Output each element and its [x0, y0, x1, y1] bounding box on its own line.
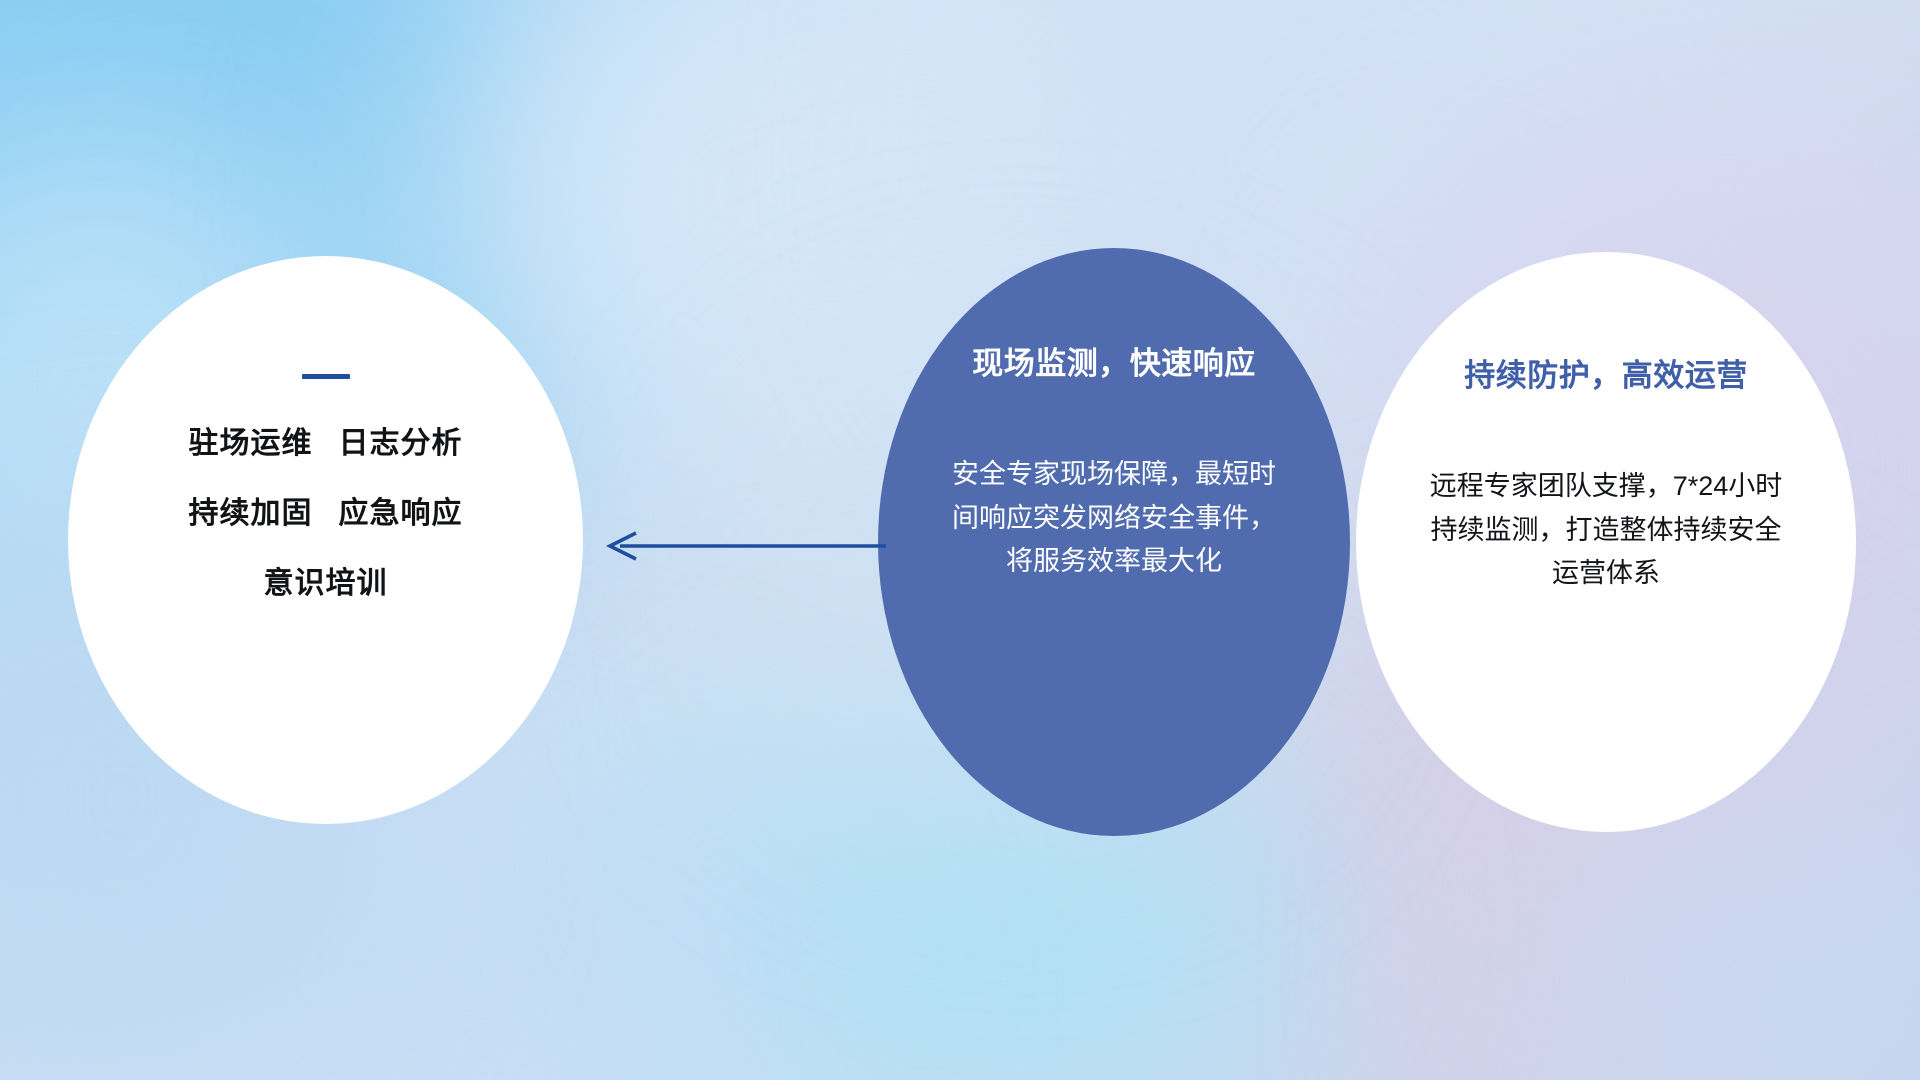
middle-circle-body: 安全专家现场保障，最短时间响应突发网络安全事件，将服务效率最大化 — [949, 453, 1279, 584]
keyword-row-1: 驻场运维日志分析 — [189, 429, 463, 459]
keyword-zhuchangyunwei: 驻场运维 — [189, 427, 313, 460]
divider-dash-icon — [302, 374, 350, 379]
right-circle-body: 远程专家团队支撑，7*24小时持续监测，打造整体持续安全运营体系 — [1420, 465, 1792, 596]
keyword-row-3: 意识培训 — [264, 569, 388, 599]
left-arrow-icon — [600, 520, 890, 572]
left-circle[interactable]: 驻场运维日志分析 持续加固应急响应 意识培训 — [68, 256, 583, 824]
keyword-yishipeixun: 意识培训 — [264, 567, 388, 600]
middle-circle[interactable]: 现场监测，快速响应 安全专家现场保障，最短时间响应突发网络安全事件，将服务效率最… — [878, 248, 1350, 836]
connector-arrow — [600, 520, 890, 577]
keyword-yingjixiangying: 应急响应 — [339, 497, 463, 530]
middle-circle-title: 现场监测，快速响应 — [972, 348, 1256, 379]
keyword-chixujiagu: 持续加固 — [189, 497, 313, 530]
slide-canvas: 持续防护，高效运营 远程专家团队支撑，7*24小时持续监测，打造整体持续安全运营… — [0, 0, 1920, 1080]
keyword-rizhifenxi: 日志分析 — [339, 427, 463, 460]
right-circle-title: 持续防护，高效运营 — [1464, 360, 1748, 391]
right-circle[interactable]: 持续防护，高效运营 远程专家团队支撑，7*24小时持续监测，打造整体持续安全运营… — [1356, 252, 1856, 832]
keyword-row-2: 持续加固应急响应 — [189, 499, 463, 529]
